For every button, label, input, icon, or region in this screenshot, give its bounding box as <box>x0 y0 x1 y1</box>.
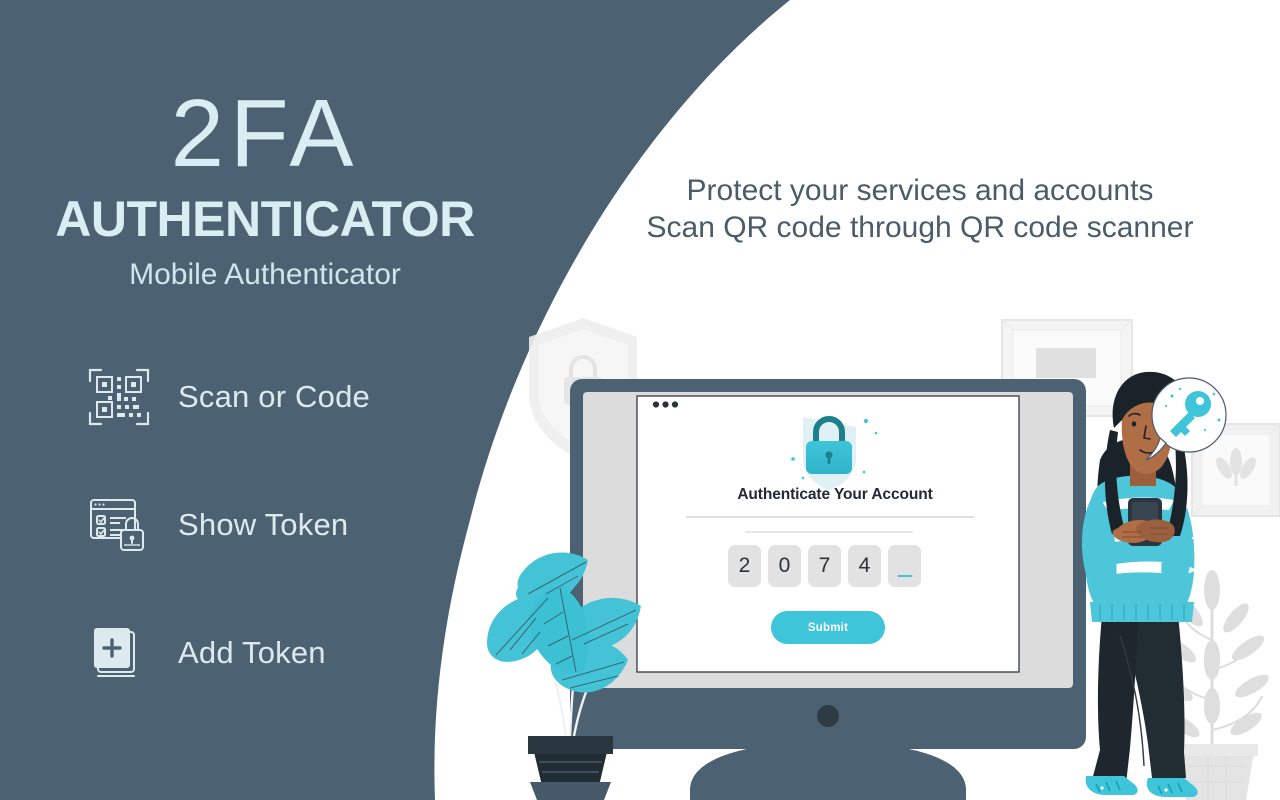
otp-digit-1[interactable]: 2 <box>728 545 761 587</box>
submit-button[interactable]: Submit <box>771 611 885 644</box>
otp-digit-2[interactable]: 0 <box>768 545 801 587</box>
text-caret-icon <box>897 575 912 577</box>
illustration-scene <box>0 0 1280 800</box>
otp-digit-4[interactable]: 4 <box>848 545 881 587</box>
window-dots-icon <box>653 401 678 407</box>
otp-digit-3[interactable]: 7 <box>808 545 841 587</box>
otp-digit-5[interactable] <box>888 545 921 587</box>
desktop-monitor <box>570 379 1086 800</box>
poster-canvas: 2FA AUTHENTICATOR Mobile Authenticator <box>0 0 1280 800</box>
dialog-title: Authenticate Your Account <box>660 486 1010 504</box>
otp-input-group[interactable]: 2 0 7 4 <box>728 545 921 587</box>
